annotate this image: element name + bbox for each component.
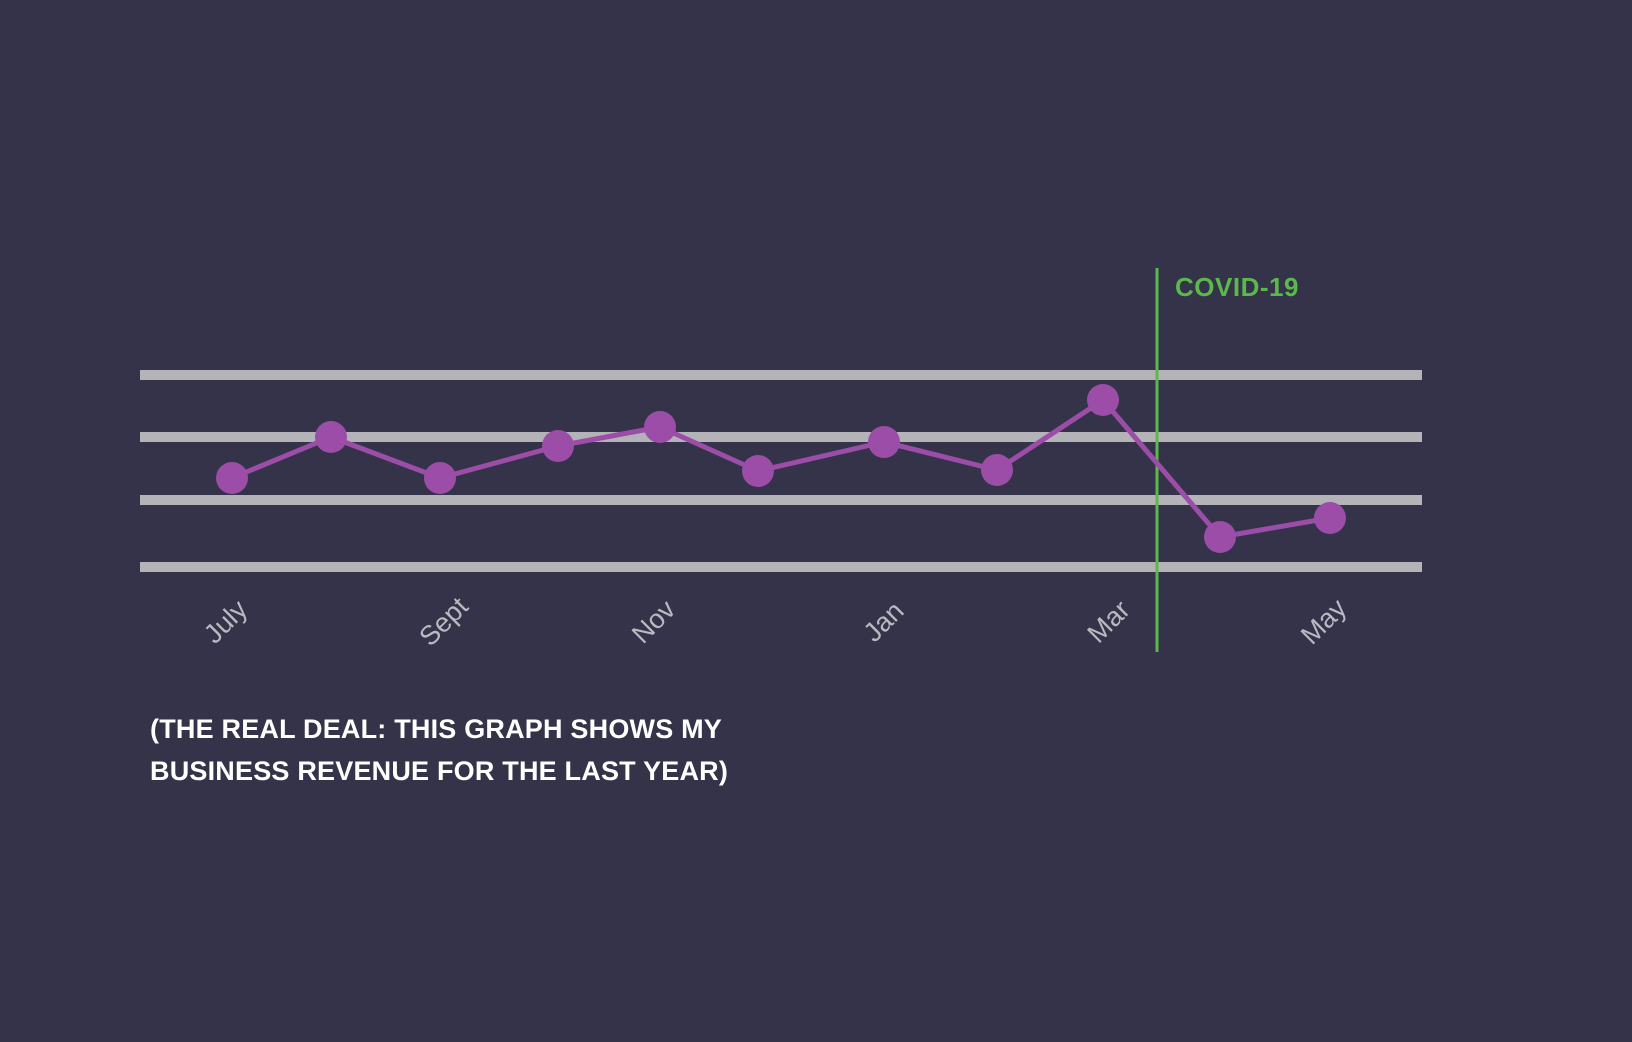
data-point-marker [981,454,1013,486]
gridline [140,495,1422,505]
data-point-marker [216,462,248,494]
data-point-marker [315,421,347,453]
caption-line-1: (THE REAL DEAL: THIS GRAPH SHOWS MY [150,708,1050,750]
x-tick-label: July [198,594,254,650]
chart-canvas: JulySeptNovJanMarMay COVID-19 (THE REAL … [0,0,1632,1042]
caption-line-2: BUSINESS REVENUE FOR THE LAST YEAR) [150,750,1050,792]
revenue-data-markers [216,384,1346,553]
data-point-marker [644,411,676,443]
covid-19-annotation-label: COVID-19 [1175,272,1299,303]
data-point-marker [868,426,900,458]
data-point-marker [424,462,456,494]
data-point-marker [742,455,774,487]
data-point-marker [1204,521,1236,553]
data-point-marker [1087,384,1119,416]
data-point-marker [1314,502,1346,534]
x-tick-label: Nov [626,594,682,650]
x-tick-label: Mar [1082,595,1136,649]
chart-caption: (THE REAL DEAL: THIS GRAPH SHOWS MY BUSI… [150,708,1050,792]
gridline [140,562,1422,572]
revenue-line-path [232,400,1330,537]
x-tick-label: Sept [413,591,474,652]
revenue-polyline [232,400,1330,537]
x-tick-label: Jan [858,596,910,648]
x-axis-tick-labels: JulySeptNovJanMarMay [198,591,1353,652]
gridline [140,370,1422,380]
revenue-line-chart: JulySeptNovJanMarMay [0,0,1632,1042]
data-point-marker [542,430,574,462]
x-tick-label: May [1295,593,1353,651]
